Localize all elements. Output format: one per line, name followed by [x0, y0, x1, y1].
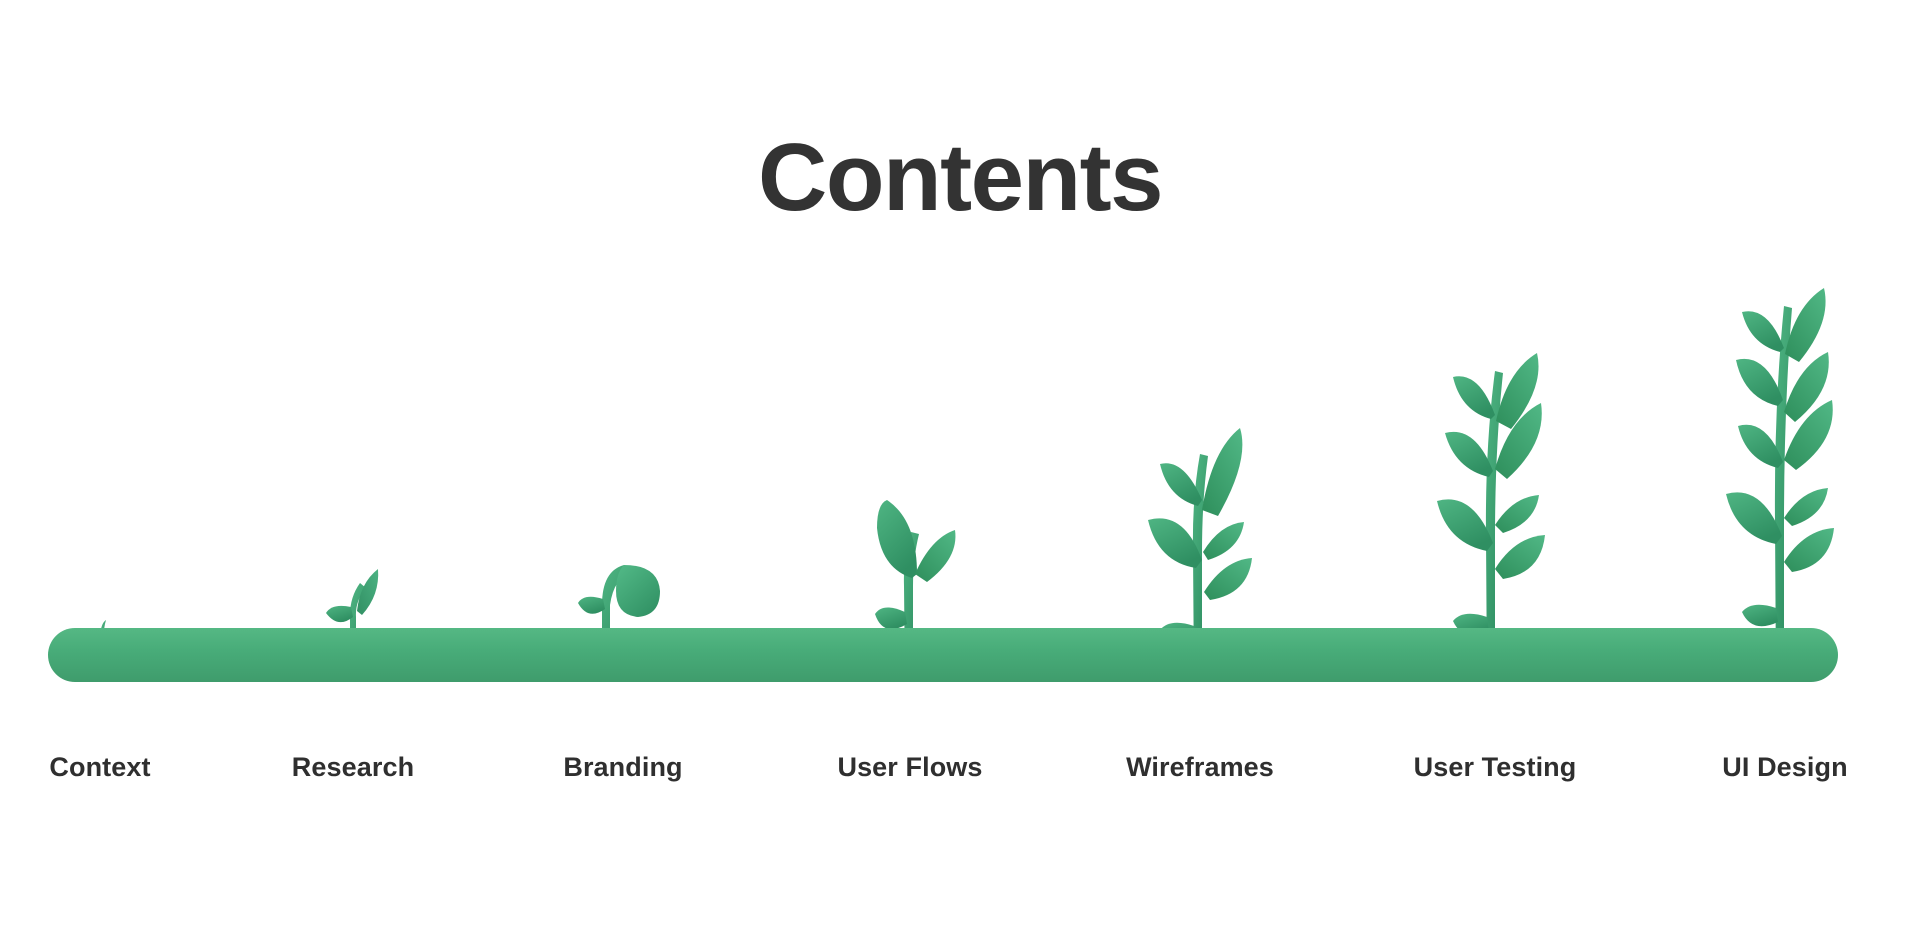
plant-sprout-stage-3 — [523, 262, 723, 682]
stage-label-wireframes[interactable]: Wireframes — [1050, 752, 1350, 783]
stage-label-user-flows[interactable]: User Flows — [760, 752, 1060, 783]
growth-timeline: Context Research Branding User Flows Wir… — [0, 0, 1920, 930]
plant-sprout-stage-4 — [810, 262, 1010, 682]
stage-label-ui-design[interactable]: UI Design — [1635, 752, 1920, 783]
plant-sprout-stage-2 — [253, 262, 453, 682]
ground-bar — [48, 628, 1838, 682]
plant-sprout-stage-6 — [1395, 262, 1595, 682]
stage-label-research[interactable]: Research — [203, 752, 503, 783]
plant-sprout-stage-5 — [1100, 262, 1300, 682]
plant-sprout-stage-1 — [0, 262, 200, 682]
stage-label-user-testing[interactable]: User Testing — [1345, 752, 1645, 783]
stage-label-branding[interactable]: Branding — [473, 752, 773, 783]
plant-sprout-stage-7 — [1685, 262, 1885, 682]
slide-canvas: Contents — [0, 0, 1920, 930]
